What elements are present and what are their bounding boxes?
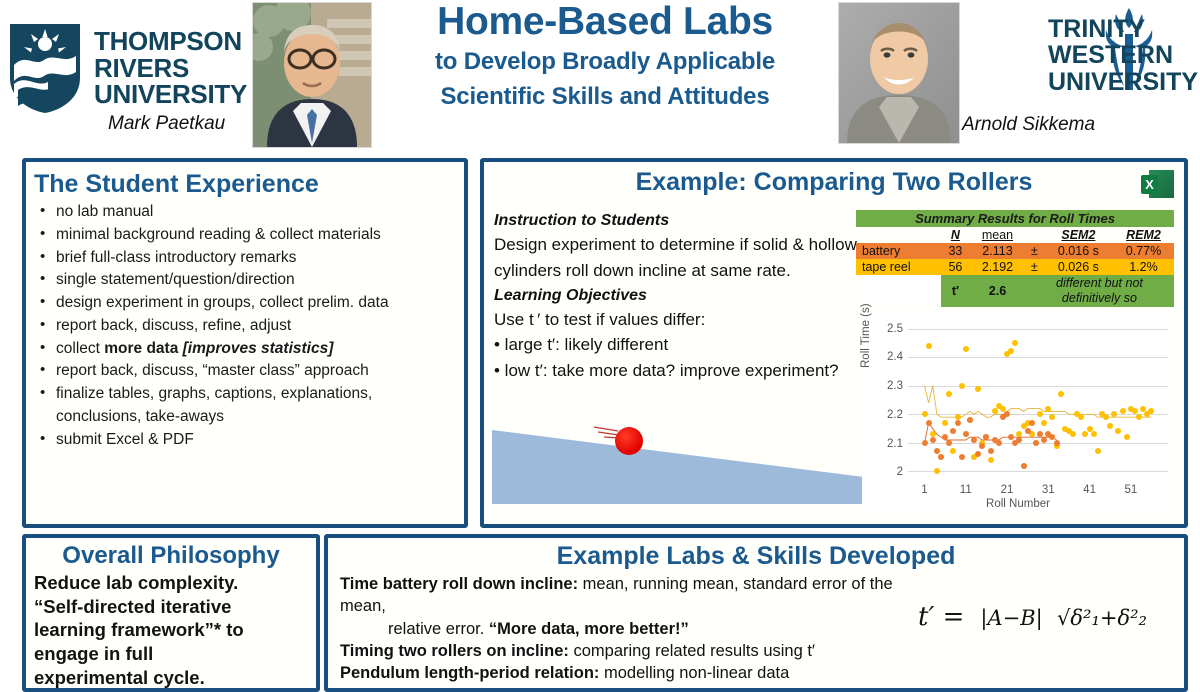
list-item: brief full-class introductory remarks — [38, 247, 458, 270]
chart-x-axis-label: Roll Number — [862, 498, 1174, 510]
lab-item-3-rest: comparing related results using t′ — [569, 642, 815, 660]
lab-item-2: relative error. “More data, more better!… — [340, 618, 940, 640]
cell-n: 56 — [941, 259, 970, 275]
cell-label: battery — [856, 243, 941, 259]
example-panel-title: Example: Comparing Two Rollers — [484, 168, 1184, 197]
chart-data-point — [922, 411, 928, 417]
lab-item-4-rest: modelling non-linear data — [599, 664, 789, 682]
chart-data-point — [1148, 408, 1154, 414]
poster-canvas: THOMPSON RIVERS UNIVERSITY Mark Paetkau — [0, 0, 1200, 675]
tru-wordmark: THOMPSON RIVERS UNIVERSITY — [94, 28, 247, 108]
chart-data-point — [963, 431, 969, 437]
philosophy-panel-title: Overall Philosophy — [26, 542, 316, 570]
chart-data-point — [959, 383, 965, 389]
footer-note-line-2: definitively so — [1028, 291, 1171, 306]
lab-item-2-pre: relative error. — [388, 620, 489, 638]
chart-x-tick: 11 — [960, 484, 972, 496]
chart-lines — [908, 320, 1168, 480]
formula-lhs: t′ = — [918, 602, 964, 632]
philosophy-line-3: learning framework”* to — [34, 618, 310, 642]
philosophy-line-4: engage in full — [34, 642, 310, 666]
chart-data-point — [988, 457, 994, 463]
chart-data-point — [922, 440, 928, 446]
roll-time-scatter-chart: Roll Time (s) 22.12.22.32.42.51112131415… — [862, 314, 1174, 510]
philosophy-line-2: “Self-directed iterative — [34, 595, 310, 619]
chart-data-point — [1107, 423, 1113, 429]
tru-logo: THOMPSON RIVERS UNIVERSITY — [6, 8, 252, 128]
rolling-ball-icon — [615, 427, 643, 455]
list-item: finalize tables, graphs, captions, expla… — [38, 383, 458, 429]
chart-data-point — [942, 420, 948, 426]
chart-data-point — [1004, 411, 1010, 417]
chart-data-point — [1103, 414, 1109, 420]
chart-data-point — [1025, 428, 1031, 434]
chart-x-tick: 21 — [1001, 484, 1014, 496]
chart-data-point — [955, 420, 961, 426]
chart-data-point — [1070, 431, 1076, 437]
objectives-intro: Use t ′ to test if values differ: — [494, 307, 862, 333]
chart-data-point — [1012, 340, 1018, 346]
chart-data-point — [1082, 431, 1088, 437]
lab-item-4-bold: Pendulum length-period relation: — [340, 664, 599, 682]
chart-data-point — [1016, 437, 1022, 443]
chart-data-point — [926, 343, 932, 349]
chart-data-point — [1115, 428, 1121, 434]
panel-student-experience: The Student Experience no lab manual min… — [22, 158, 468, 528]
tprime-formula: t′ = |A−B| √δ²₁+δ²₂ — [918, 602, 1168, 632]
chart-data-point — [1041, 420, 1047, 426]
cell-pm: ± — [1025, 243, 1044, 259]
chart-data-point — [1054, 440, 1060, 446]
lab-item-3-bold: Timing two rollers on incline: — [340, 642, 569, 660]
title-line-2: to Develop Broadly Applicable — [375, 47, 835, 78]
lab-item-1-bold: Time battery roll down incline: — [340, 575, 578, 593]
student-panel-title: The Student Experience — [34, 170, 464, 199]
lab-item-1: Time battery roll down incline: mean, ru… — [340, 573, 940, 618]
summary-results-table: Summary Results for Roll Times N mean SE… — [856, 210, 1174, 307]
chart-y-axis-label: Roll Time (s) — [860, 303, 872, 368]
chart-y-tick: 2.2 — [887, 409, 903, 421]
chart-data-point — [934, 468, 940, 474]
chart-data-point — [1033, 440, 1039, 446]
poster-title: Home-Based Labs to Develop Broadly Appli… — [375, 2, 835, 112]
chart-data-point — [1049, 414, 1055, 420]
chart-x-tick: 51 — [1124, 484, 1137, 496]
chart-y-tick: 2.3 — [887, 380, 903, 392]
panel-example-rollers: Example: Comparing Two Rollers X Instruc… — [480, 158, 1188, 528]
poster-header: THOMPSON RIVERS UNIVERSITY Mark Paetkau — [0, 0, 1200, 150]
list-item: single statement/question/direction — [38, 269, 458, 292]
chart-data-point — [1124, 434, 1130, 440]
chart-data-point — [1041, 437, 1047, 443]
list-item-emphasis: collect more data [improves statistics] — [38, 338, 458, 361]
table-title: Summary Results for Roll Times — [856, 210, 1174, 227]
formula-denominator: √δ²₁+δ²₂ — [1057, 604, 1147, 630]
chart-data-point — [1029, 420, 1035, 426]
chart-data-point — [950, 448, 956, 454]
cell-mean: 2.113 — [970, 243, 1025, 259]
chart-data-point — [1111, 411, 1117, 417]
list-item: design experiment in groups, collect pre… — [38, 292, 458, 315]
cell-pm: ± — [1025, 259, 1044, 275]
lab-item-2-bold: “More data, more better!” — [489, 620, 689, 638]
table-header-row: N mean SEM2 REM2 — [856, 227, 1174, 243]
cell-sem2: 0.026 s — [1044, 259, 1113, 275]
chart-y-tick: 2.1 — [887, 438, 903, 450]
cell-rem2: 0.77% — [1113, 243, 1174, 259]
tru-line-3: UNIVERSITY — [94, 81, 247, 108]
chart-data-point — [1120, 408, 1126, 414]
photo-arnold-sikkema — [838, 2, 960, 144]
panel-overall-philosophy: Overall Philosophy Reduce lab complexity… — [22, 534, 320, 692]
table-row: battery 33 2.113 ± 0.016 s 0.77% — [856, 243, 1174, 259]
col-blank — [856, 227, 941, 243]
footer-note: different but not definitively so — [1025, 275, 1174, 307]
objective-bullet-1: • large t′: likely different — [494, 332, 862, 358]
student-bullet-list: no lab manual minimal background reading… — [26, 201, 464, 452]
chart-y-tick: 2 — [897, 466, 903, 478]
tru-line-1: THOMPSON — [94, 28, 247, 55]
tru-line-2: RIVERS — [94, 55, 247, 82]
chart-data-point — [967, 417, 973, 423]
chart-data-point — [950, 428, 956, 434]
formula-fraction: |A−B| √δ²₁+δ²₂ — [974, 602, 1147, 632]
cell-rem2: 1.2% — [1113, 259, 1174, 275]
chart-x-tick: 41 — [1083, 484, 1096, 496]
chart-data-point — [975, 451, 981, 457]
photo-mark-paetkau — [252, 2, 372, 148]
footer-tprime-label: t′ — [941, 275, 970, 307]
twu-line-1: TRINITY — [1048, 16, 1198, 42]
objectives-heading: Learning Objectives — [494, 287, 862, 305]
chart-y-tick: 2.5 — [887, 323, 903, 335]
instruction-block: Instruction to Students Design experimen… — [494, 212, 862, 383]
list-item: report back, discuss, “master class” app… — [38, 360, 458, 383]
col-mean: mean — [970, 227, 1025, 243]
chart-data-point — [988, 448, 994, 454]
tru-shield-icon — [6, 20, 84, 116]
list-item: report back, discuss, refine, adjust — [38, 315, 458, 338]
chart-data-point — [992, 408, 998, 414]
philosophy-line-1: Reduce lab complexity. — [34, 571, 310, 595]
author-name-right: Arnold Sikkema — [962, 114, 1095, 136]
footer-note-line-1: different but not — [1028, 276, 1171, 291]
col-sem2: SEM2 — [1044, 227, 1113, 243]
chart-data-point — [1078, 414, 1084, 420]
chart-data-point — [946, 391, 952, 397]
list-item: minimal background reading & collect mat… — [38, 224, 458, 247]
footer-tprime-value: 2.6 — [970, 275, 1025, 307]
table-row: tape reel 56 2.192 ± 0.026 s 1.2% — [856, 259, 1174, 275]
chart-data-point — [1008, 348, 1014, 354]
philosophy-line-5: experimental cycle. — [34, 666, 310, 690]
labs-body: Time battery roll down incline: mean, ru… — [328, 573, 946, 684]
chart-data-point — [971, 437, 977, 443]
chart-data-point — [983, 434, 989, 440]
chart-data-point — [975, 386, 981, 392]
author-name-left: Mark Paetkau — [108, 113, 225, 135]
cell-n: 33 — [941, 243, 970, 259]
lab-item-4: Pendulum length-period relation: modelli… — [340, 662, 940, 684]
formula-numerator: |A−B| — [974, 606, 1048, 631]
instruction-heading: Instruction to Students — [494, 212, 862, 230]
table-footer-row: t′ 2.6 different but not definitively so — [856, 275, 1174, 307]
lab-item-3: Timing two rollers on incline: comparing… — [340, 640, 940, 662]
incline-ramp-icon — [492, 420, 872, 516]
list-item: submit Excel & PDF — [38, 429, 458, 452]
twu-line-2: WESTERN — [1048, 42, 1198, 68]
philosophy-body: Reduce lab complexity. “Self-directed it… — [26, 571, 316, 689]
cell-mean: 2.192 — [970, 259, 1025, 275]
chart-x-tick: 1 — [921, 484, 927, 496]
labs-panel-title: Example Labs & Skills Developed — [328, 542, 1184, 571]
excel-file-icon[interactable]: X — [1140, 168, 1176, 202]
list-item: no lab manual — [38, 201, 458, 224]
chart-data-point — [1037, 411, 1043, 417]
twu-line-3: UNIVERSITY — [1048, 69, 1198, 95]
chart-data-point — [926, 420, 932, 426]
cell-sem2: 0.016 s — [1044, 243, 1113, 259]
collect-italic: [improves statistics] — [183, 340, 334, 357]
chart-data-point — [1045, 406, 1051, 412]
cell-label: tape reel — [856, 259, 941, 275]
twu-wordmark: TRINITY WESTERN UNIVERSITY — [1048, 16, 1198, 95]
chart-data-point — [963, 346, 969, 352]
col-rem2: REM2 — [1113, 227, 1174, 243]
chart-y-tick: 2.4 — [887, 351, 903, 363]
chart-data-point — [959, 454, 965, 460]
objective-bullet-2: • low t′: take more data? improve experi… — [494, 358, 862, 384]
chart-data-point — [1136, 414, 1142, 420]
instruction-body: Design experiment to determine if solid … — [494, 232, 862, 284]
chart-plot-area: 22.12.22.32.42.511121314151 — [908, 320, 1168, 480]
col-n: N — [941, 227, 970, 243]
chart-data-point — [1095, 448, 1101, 454]
title-line-1: Home-Based Labs — [375, 2, 835, 43]
chart-data-point — [938, 454, 944, 460]
chart-data-point — [996, 440, 1002, 446]
chart-x-tick: 31 — [1042, 484, 1055, 496]
collect-prefix: collect — [56, 340, 104, 357]
chart-data-point — [930, 437, 936, 443]
svg-text:X: X — [1145, 177, 1154, 192]
panel-example-labs: Example Labs & Skills Developed Time bat… — [324, 534, 1188, 692]
chart-data-point — [1091, 431, 1097, 437]
chart-data-point — [1021, 463, 1027, 469]
chart-data-point — [1058, 391, 1064, 397]
chart-data-point — [979, 443, 985, 449]
col-pm — [1025, 227, 1044, 243]
collect-bold: more data — [104, 340, 182, 357]
chart-data-point — [946, 440, 952, 446]
title-line-3: Scientific Skills and Attitudes — [375, 82, 835, 113]
